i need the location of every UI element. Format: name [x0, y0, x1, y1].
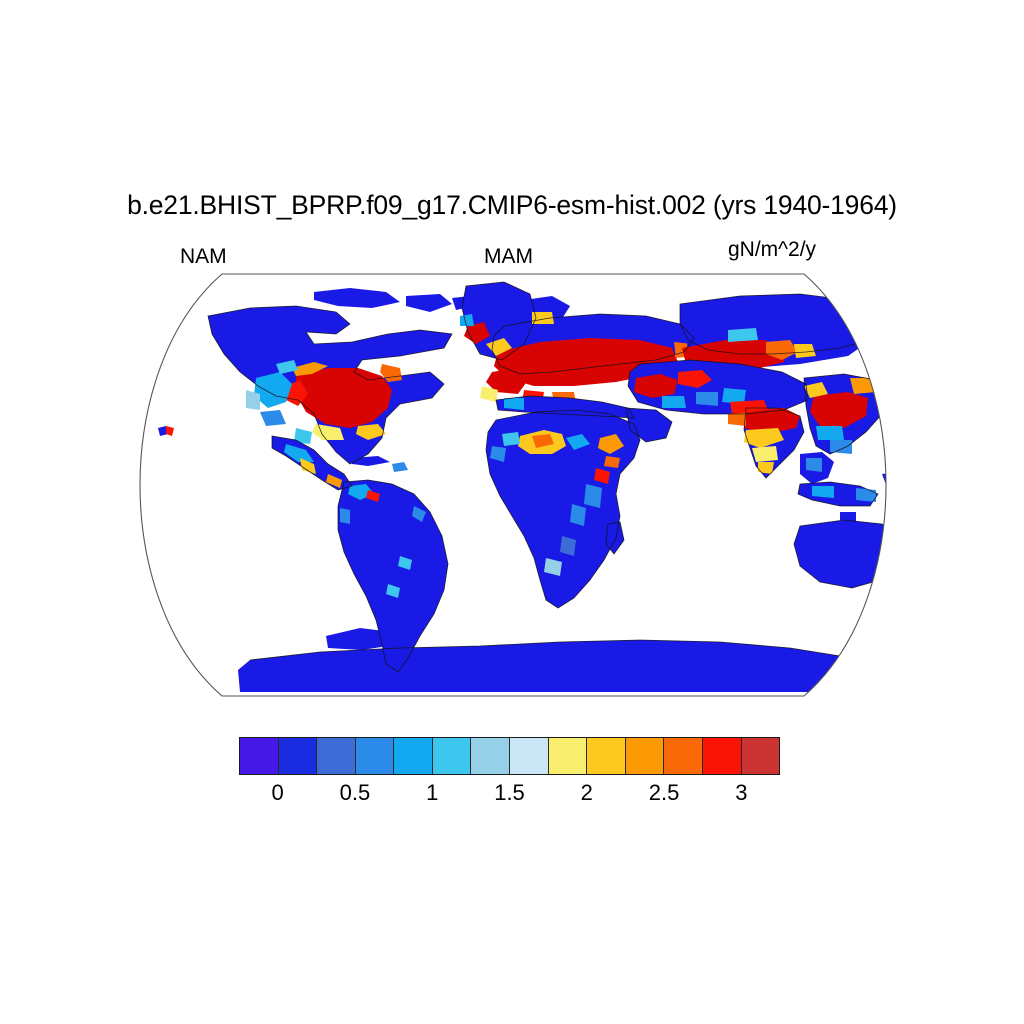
figure-title: b.e21.BHIST_BPRP.f09_g17.CMIP6-esm-hist.…: [0, 190, 1024, 221]
world-map: [100, 268, 926, 702]
colorbar: [239, 737, 780, 775]
season-label: MAM: [484, 245, 533, 269]
colorbar-cell-10: [626, 738, 665, 774]
colorbar-cell-9: [587, 738, 626, 774]
colorbar-cell-3: [356, 738, 395, 774]
colorbar-tick-0.5: 0.5: [340, 780, 371, 806]
colorbar-tick-1: 1: [426, 780, 438, 806]
colorbar-tick-0: 0: [272, 780, 284, 806]
colorbar-cell-1: [279, 738, 318, 774]
colorbar-cell-8: [549, 738, 588, 774]
colorbar-cell-13: [742, 738, 780, 774]
colorbar-tick-2.5: 2.5: [649, 780, 680, 806]
colorbar-cell-12: [703, 738, 742, 774]
region-label: NAM: [180, 245, 227, 269]
colorbar-cell-5: [433, 738, 472, 774]
map-panel: [100, 268, 926, 702]
colorbar-cell-11: [664, 738, 703, 774]
colorbar-tick-3: 3: [735, 780, 747, 806]
colorbar-cell-7: [510, 738, 549, 774]
colorbar-tick-2: 2: [581, 780, 593, 806]
colorbar-cell-2: [317, 738, 356, 774]
colorbar-cell-4: [394, 738, 433, 774]
climate-map-figure: b.e21.BHIST_BPRP.f09_g17.CMIP6-esm-hist.…: [0, 0, 1024, 1024]
colorbar-cell-6: [471, 738, 510, 774]
colorbar-tick-labels: 00.511.522.53: [239, 780, 780, 810]
colorbar-tick-1.5: 1.5: [494, 780, 525, 806]
colorbar-cell-0: [240, 738, 279, 774]
units-label: gN/m^2/y: [728, 238, 816, 262]
